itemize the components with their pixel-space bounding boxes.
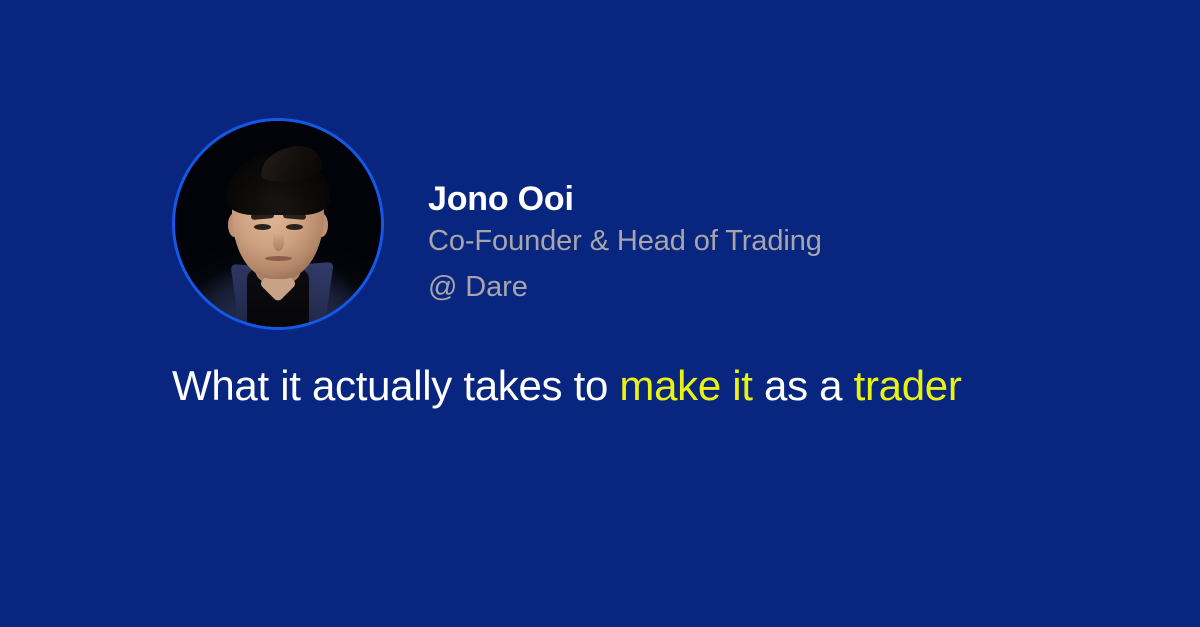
headline-accent-trader: trader	[854, 362, 962, 409]
headline: What it actually takes to make it as a t…	[172, 352, 1052, 419]
avatar-photo	[175, 121, 381, 327]
person-role-line-1: Co-Founder & Head of Trading	[428, 218, 822, 264]
identity-block: Jono Ooi Co-Founder & Head of Trading @ …	[428, 118, 822, 311]
person-role-line-2: @ Dare	[428, 264, 822, 310]
share-card: Jono Ooi Co-Founder & Head of Trading @ …	[0, 0, 1200, 627]
avatar-mouth	[265, 256, 292, 261]
avatar	[172, 118, 384, 330]
headline-segment-1: What it actually takes to	[172, 362, 619, 409]
person-name: Jono Ooi	[428, 180, 822, 218]
avatar-eye-right	[286, 224, 303, 230]
headline-segment-3: as a	[753, 362, 854, 409]
avatar-nose	[273, 233, 284, 251]
profile-header: Jono Ooi Co-Founder & Head of Trading @ …	[172, 118, 822, 330]
avatar-eye-left	[254, 224, 271, 230]
headline-accent-make-it: make it	[619, 362, 752, 409]
